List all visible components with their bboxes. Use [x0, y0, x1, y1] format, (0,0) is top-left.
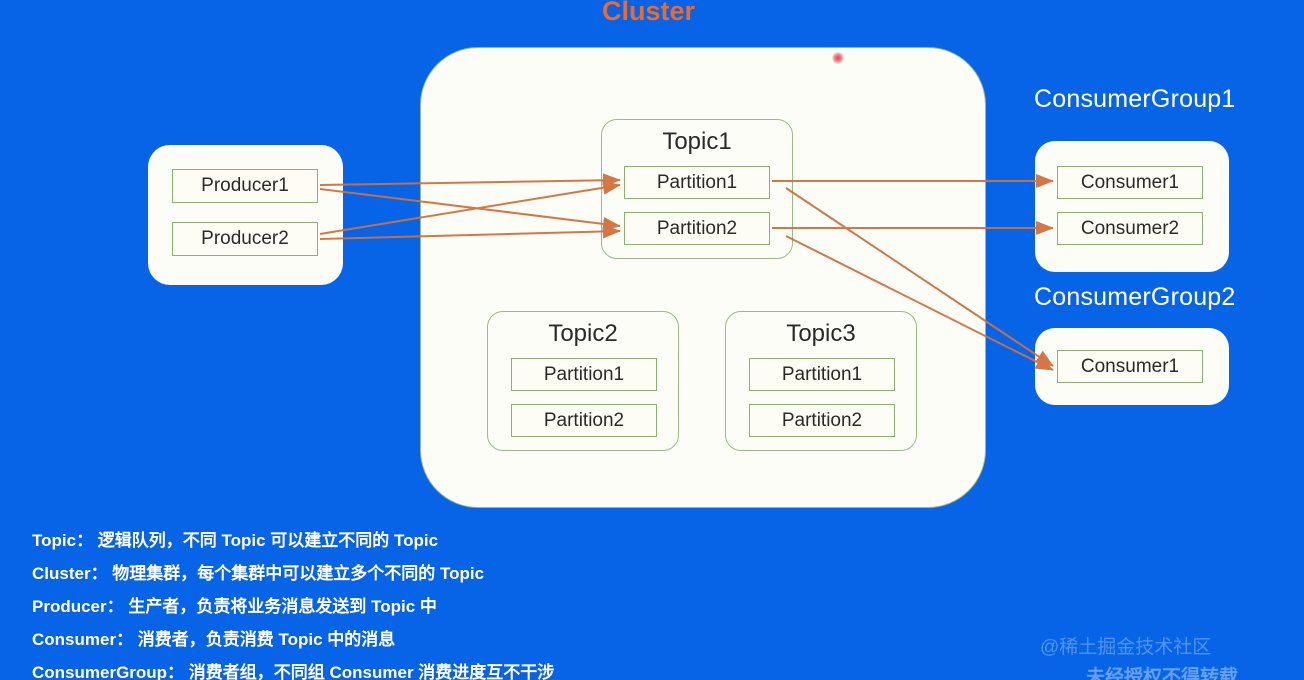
- legend-line-consumer: Consumer： 消费者，负责消费 Topic 中的消息: [32, 623, 672, 656]
- topic-1-partition-2-label: Partition2: [657, 218, 737, 240]
- consumer-group-1-title: ConsumerGroup1: [1034, 85, 1236, 114]
- consumer-group-1-consumer-1-label: Consumer1: [1081, 172, 1179, 194]
- consumer-group-2-consumer-1-label: Consumer1: [1081, 356, 1179, 378]
- legend: Topic： 逻辑队列，不同 Topic 可以建立不同的 Topic Clust…: [32, 524, 672, 680]
- legend-line-cluster: Cluster： 物理集群，每个集群中可以建立多个不同的 Topic: [32, 557, 672, 590]
- topic-3-partition-2-cell[interactable]: Partition2: [749, 404, 895, 437]
- topic-1-partition-2-cell[interactable]: Partition2: [624, 212, 770, 245]
- topic-3-partition-2-label: Partition2: [782, 410, 862, 432]
- diagram-canvas: Cluster Producer1 Producer2 Topic1 Parti…: [0, 0, 1304, 680]
- topic-2-partition-2-cell[interactable]: Partition2: [511, 404, 657, 437]
- consumer-group-1-consumer-1-cell[interactable]: Consumer1: [1057, 166, 1203, 199]
- topic-3-label: Topic3: [725, 320, 917, 348]
- legend-line-producer: Producer： 生产者，负责将业务消息发送到 Topic 中: [32, 590, 672, 623]
- topic-1-partition-1-label: Partition1: [657, 172, 737, 194]
- consumer-group-1-container: [1035, 141, 1229, 272]
- producer-container: [148, 145, 343, 285]
- topic-2-partition-2-label: Partition2: [544, 410, 624, 432]
- topic-2-label: Topic2: [487, 320, 679, 348]
- consumer-group-1-consumer-2-cell[interactable]: Consumer2: [1057, 212, 1203, 245]
- consumer-group-2-consumer-1-cell[interactable]: Consumer1: [1057, 350, 1203, 383]
- cluster-title: Cluster: [602, 0, 695, 27]
- consumer-group-1-consumer-2-label: Consumer2: [1081, 218, 1179, 240]
- topic-3-partition-1-label: Partition1: [782, 364, 862, 386]
- topic-2-partition-1-cell[interactable]: Partition1: [511, 358, 657, 391]
- consumer-group-2-title: ConsumerGroup2: [1034, 283, 1236, 312]
- watermark-line-1: @稀土掘金技术社区: [1040, 632, 1211, 659]
- legend-line-topic: Topic： 逻辑队列，不同 Topic 可以建立不同的 Topic: [32, 524, 672, 557]
- topic-1-partition-1-cell[interactable]: Partition1: [624, 166, 770, 199]
- producer-2-label: Producer2: [201, 228, 289, 250]
- watermark-line-2: 未经授权不得转载: [1086, 662, 1238, 680]
- topic-3-partition-1-cell[interactable]: Partition1: [749, 358, 895, 391]
- cursor-dot: [832, 52, 844, 64]
- topic-2-partition-1-label: Partition1: [544, 364, 624, 386]
- producer-2-cell[interactable]: Producer2: [172, 222, 318, 256]
- producer-1-label: Producer1: [201, 175, 289, 197]
- topic-1-label: Topic1: [601, 128, 793, 156]
- producer-1-cell[interactable]: Producer1: [172, 169, 318, 203]
- legend-line-consumergroup: ConsumerGroup： 消费者组，不同组 Consumer 消费进度互不干…: [32, 656, 672, 680]
